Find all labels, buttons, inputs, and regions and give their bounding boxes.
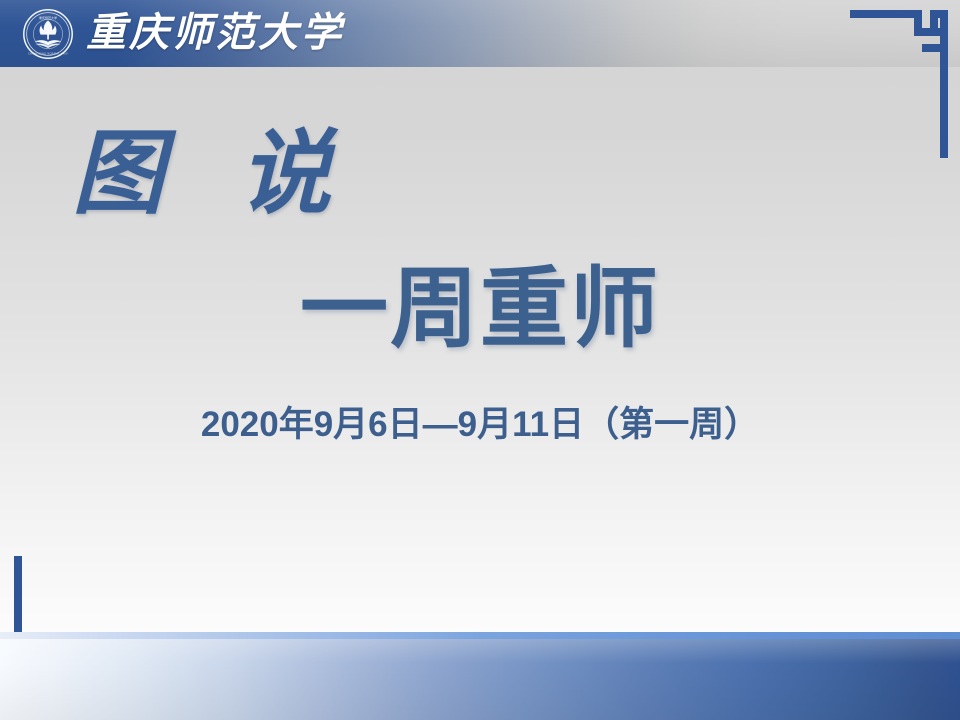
university-wordmark: 重庆师范大学 — [86, 8, 344, 58]
slide-date-subtitle: 2020年9月6日—9月11日（第一周） — [0, 404, 960, 446]
svg-text:CHONGQING NORMAL UNIV: CHONGQING NORMAL UNIV — [28, 52, 68, 55]
footer-accent-rule — [0, 632, 960, 639]
footer-band — [0, 639, 960, 720]
slide-script-title: 图 说 — [72, 128, 357, 220]
university-seal-icon: 重庆师范大学 CHONGQING NORMAL UNIV — [22, 8, 74, 60]
svg-text:重庆师范大学: 重庆师范大学 — [39, 15, 57, 20]
presentation-slide: 重庆师范大学 CHONGQING NORMAL UNIV 重庆师范大学 — [0, 0, 960, 720]
slide-main-title: 一周重师 — [0, 263, 960, 355]
corner-bracket-icon-top-right — [850, 0, 954, 158]
